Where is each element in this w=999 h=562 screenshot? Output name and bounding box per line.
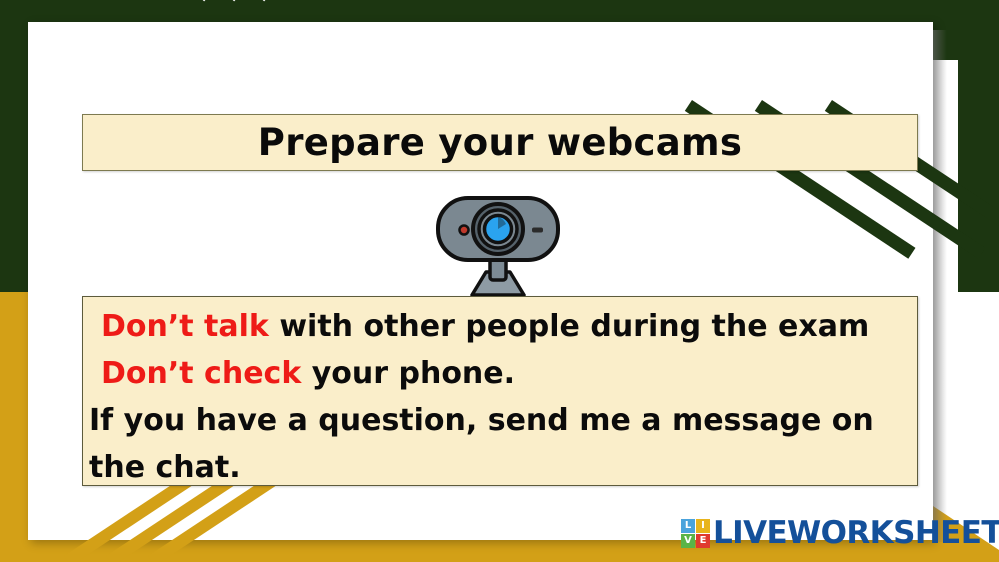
logo-tile-v: V [681,534,695,548]
logo-tile-l: L [681,519,695,533]
instruction-rest: the chat. [89,450,241,485]
liveworksheets-logo[interactable]: L I V E LIVEWORKSHEETS [681,512,999,554]
instruction-highlight: Don’t talk [101,309,279,344]
instruction-line: Don’t talk with other people during the … [89,303,907,350]
logo-tile-e: E [696,534,710,548]
page-title: Prepare your webcams [258,121,742,164]
instruction-line: If you have a question, send me a messag… [89,397,907,444]
logo-wordmark: LIVEWORKSHEETS [713,515,999,551]
instruction-highlight: Don’t check [101,356,312,391]
logo-tile-i: I [696,519,710,533]
instruction-line: the chat. [89,444,907,491]
instruction-line: Don’t check your phone. [89,350,907,397]
logo-tiles: L I V E [681,519,710,548]
instruction-rest: If you have a question, send me a messag… [89,403,874,438]
instruction-rest: your phone. [312,356,515,391]
webcam-icon [428,192,568,302]
decor-card-shadow [933,30,947,542]
slide-canvas: Prepare your webcams Don’t talk with oth… [0,0,999,562]
title-box: Prepare your webcams [82,114,918,171]
instructions-box: Don’t talk with other people during the … [82,296,918,486]
instruction-rest: with other people during the exam [279,309,869,344]
